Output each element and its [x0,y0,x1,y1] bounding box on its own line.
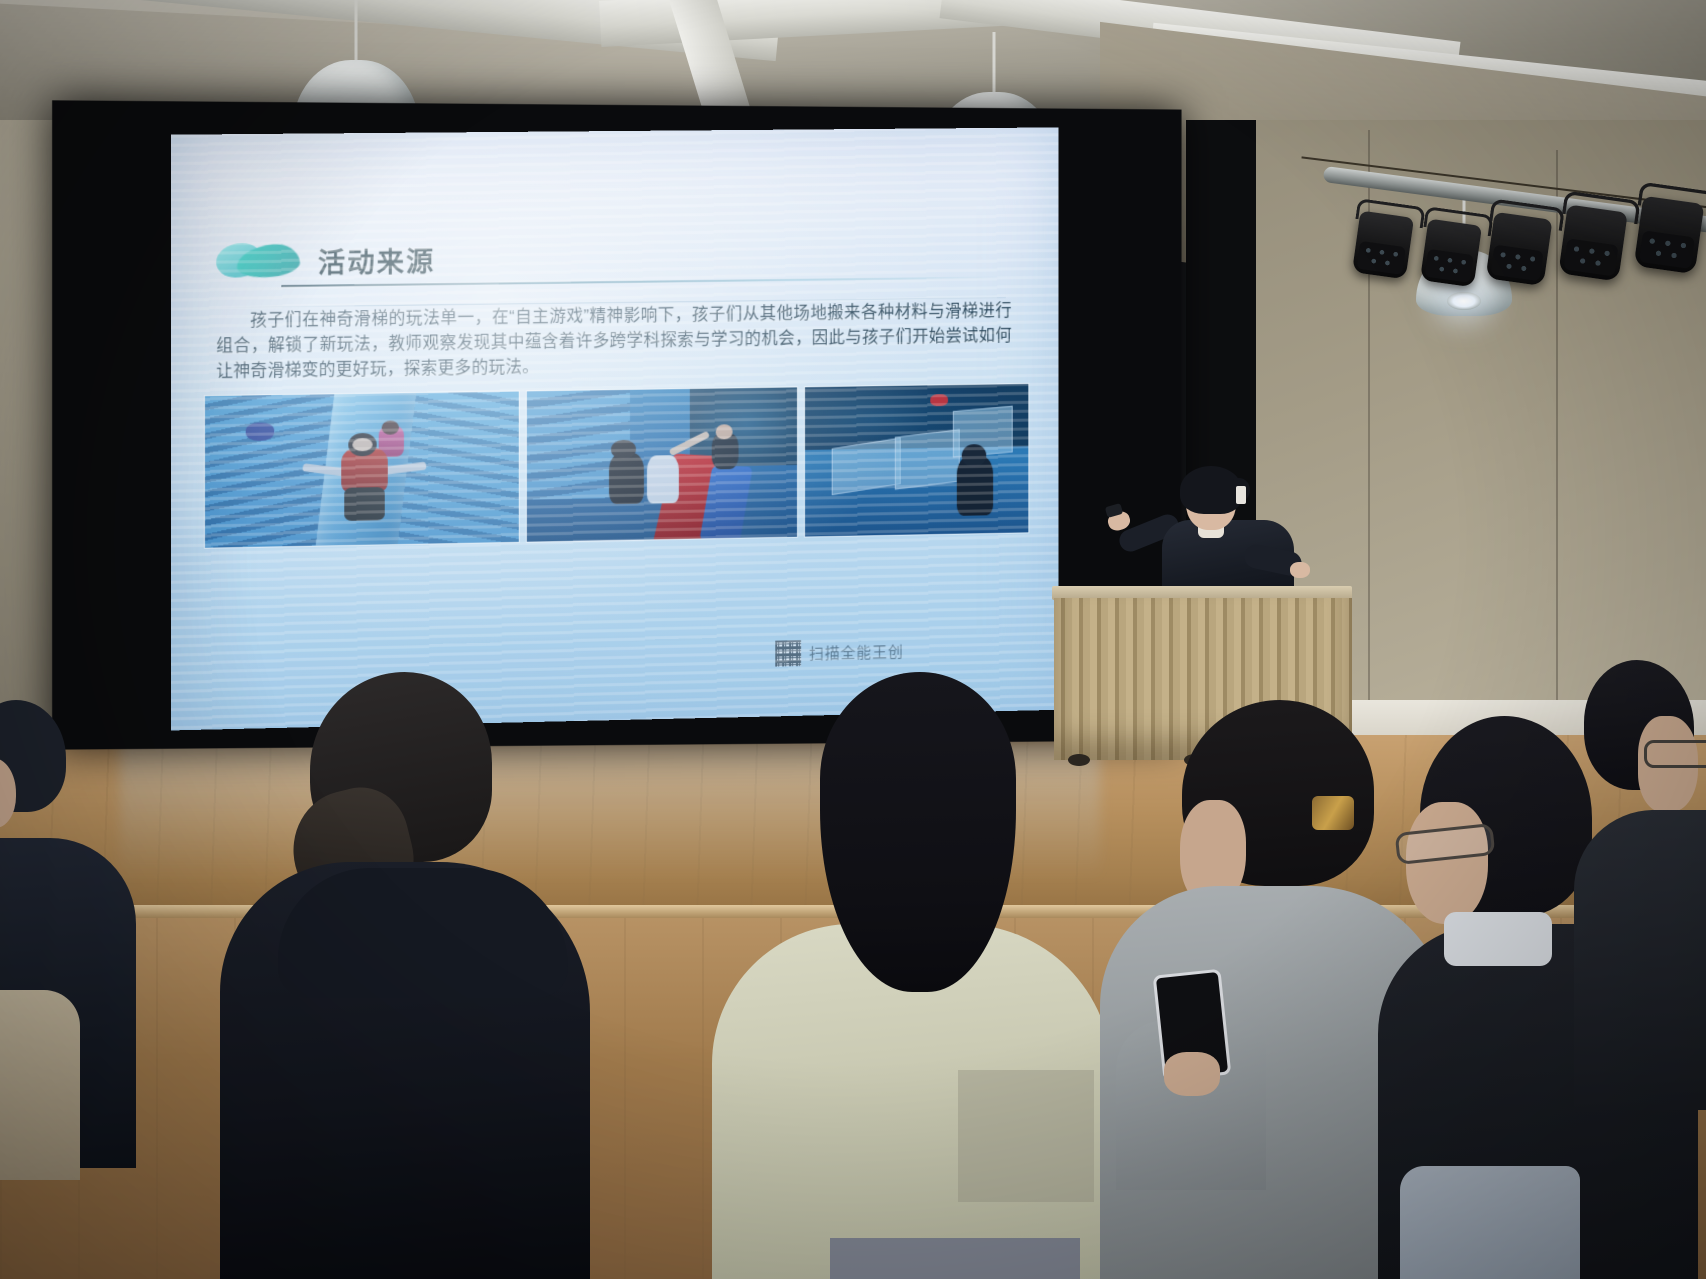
par-lens [1563,238,1618,276]
attendee-jeans [1400,1166,1580,1279]
attendee-torso [1574,810,1706,1110]
attendee-backpack [0,990,80,1180]
camscanner-watermark: 扫描全能王创 [775,638,903,667]
lamp-rod [355,0,358,64]
slide-photo-1 [204,390,520,548]
presenter-hair-clip [1236,486,1246,504]
presentation-slide[interactable]: 活动来源 孩子们在神奇滑梯的玩法单一，在“自主游戏”精神影响下，孩子们从其他场地… [171,127,1058,730]
lamp-rod [993,32,996,96]
par-light-icon [1634,196,1705,275]
watermark-text: 扫描全能王创 [809,640,904,663]
par-light-icon [1558,204,1628,281]
slide-body-text: 孩子们在神奇滑梯的玩法单一，在“自主游戏”精神影响下，孩子们从其他场地搬来各种材… [216,298,1012,384]
attendee-hood [278,868,568,998]
attendee-underlayer [830,1238,1080,1279]
slide-title: 活动来源 [318,249,435,281]
attendee-collar [1444,912,1552,966]
slide-photo-2 [526,386,798,542]
hair-clip-icon [1312,796,1354,830]
presenter-hand-right [1290,562,1310,578]
slide-header: 活动来源 [216,219,1012,282]
attendee-face [1406,802,1488,924]
attendee-center [786,672,1116,1279]
attendee-left-edge [0,700,200,1279]
attendee-right-edge [1584,660,1706,1120]
slide-photo-row [204,383,1029,549]
par-light-icon [1352,211,1414,280]
par-light-icon [1420,219,1482,288]
attendee-ponytail [272,672,602,1279]
wall-seam [1556,150,1558,710]
qr-code-icon [775,640,801,666]
par-lens [1490,244,1543,281]
leaf-blob-icon [216,242,304,281]
lamp-bulb [1447,292,1481,310]
slide-photo-3 [804,383,1029,538]
par-lens [1424,249,1473,283]
attendee-hair [820,672,1016,992]
attendee-sweater-patch [958,1070,1094,1202]
glasses-icon [1644,740,1706,768]
par-light-icon [1485,212,1552,286]
par-lens [1356,241,1405,275]
par-lens [1639,230,1695,269]
attendee-hand [1164,1052,1220,1096]
presentation-room-photo: 活动来源 孩子们在神奇滑梯的玩法单一，在“自主游戏”精神影响下，孩子们从其他场地… [0,0,1706,1279]
